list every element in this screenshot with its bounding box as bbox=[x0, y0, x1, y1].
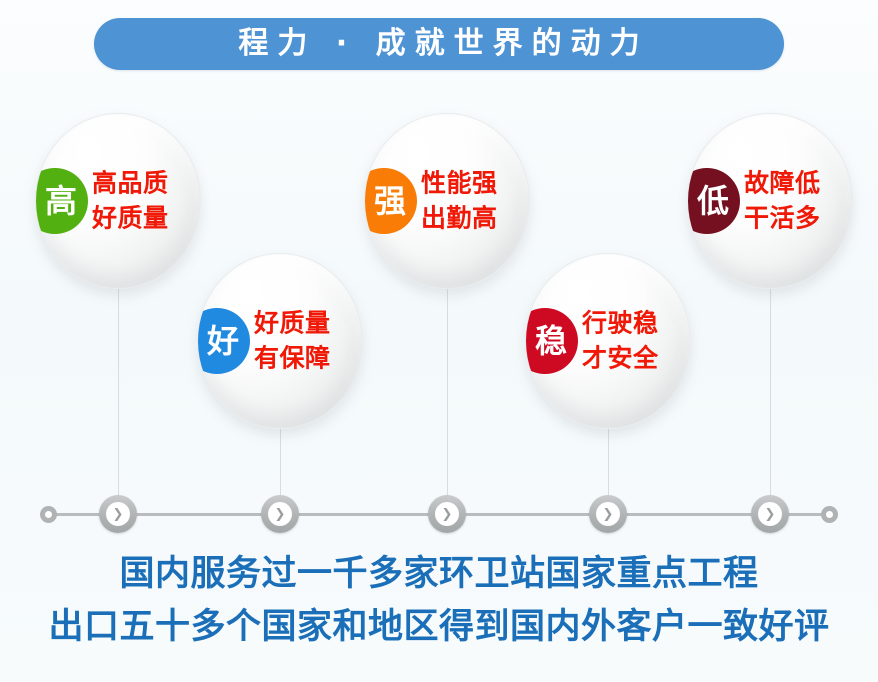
feature-text-3: 性能强 出勤高 bbox=[421, 167, 498, 236]
timeline-cap-left bbox=[40, 506, 57, 523]
feature-text-5: 故障低 干活多 bbox=[744, 167, 821, 236]
feature-line-3a: 性能强 bbox=[421, 167, 498, 202]
feature-text-2: 好质量 有保障 bbox=[254, 307, 331, 376]
timeline-line bbox=[50, 513, 832, 516]
feature-line-1b: 好质量 bbox=[92, 201, 169, 236]
feature-line-5b: 干活多 bbox=[744, 201, 821, 236]
feature-line-1a: 高品质 bbox=[92, 167, 169, 202]
footer-line-1: 国内服务过一千多家环卫站国家重点工程 bbox=[0, 548, 878, 601]
header-banner-title: 程力 · 成就世界的动力 bbox=[229, 29, 648, 59]
bubble-stem-2 bbox=[280, 428, 281, 513]
feature-line-4a: 行驶稳 bbox=[582, 307, 659, 342]
feature-text-4: 行驶稳 才安全 bbox=[582, 307, 659, 376]
feature-bubble-2[interactable]: 好 好质量 有保障 bbox=[197, 253, 363, 429]
feature-badge-1: 高 bbox=[35, 168, 88, 234]
feature-line-3b: 出勤高 bbox=[421, 201, 498, 236]
feature-text-1: 高品质 好质量 bbox=[92, 167, 169, 236]
bubble-stem-4 bbox=[608, 428, 609, 513]
feature-bubble-5[interactable]: 低 故障低 干活多 bbox=[687, 113, 853, 289]
feature-bubble-3[interactable]: 强 性能强 出勤高 bbox=[364, 113, 530, 289]
bubble-stem-3 bbox=[447, 288, 448, 513]
feature-bubble-1[interactable]: 高 高品质 好质量 bbox=[35, 113, 201, 289]
infographic-stage: 程力 · 成就世界的动力 高 高品质 好质量 好 好质量 有保障 强 性能强 出… bbox=[0, 0, 878, 682]
bubble-stem-5 bbox=[770, 288, 771, 513]
feature-badge-5: 低 bbox=[687, 168, 740, 234]
feature-badge-4: 稳 bbox=[525, 308, 578, 374]
feature-badge-3: 强 bbox=[364, 168, 417, 234]
feature-line-2b: 有保障 bbox=[254, 341, 331, 376]
timeline-cap-right bbox=[821, 506, 838, 523]
bubble-stem-1 bbox=[118, 288, 119, 513]
feature-line-2a: 好质量 bbox=[254, 307, 331, 342]
feature-line-5a: 故障低 bbox=[744, 167, 821, 202]
feature-line-4b: 才安全 bbox=[582, 341, 659, 376]
header-banner: 程力 · 成就世界的动力 bbox=[94, 18, 784, 70]
feature-bubble-4[interactable]: 稳 行驶稳 才安全 bbox=[525, 253, 691, 429]
footer: 国内服务过一千多家环卫站国家重点工程 出口五十多个国家和地区得到国内外客户一致好… bbox=[0, 548, 878, 654]
footer-line-2: 出口五十多个国家和地区得到国内外客户一致好评 bbox=[0, 601, 878, 654]
feature-badge-2: 好 bbox=[197, 308, 250, 374]
header-banner-area: 程力 · 成就世界的动力 bbox=[0, 14, 878, 74]
